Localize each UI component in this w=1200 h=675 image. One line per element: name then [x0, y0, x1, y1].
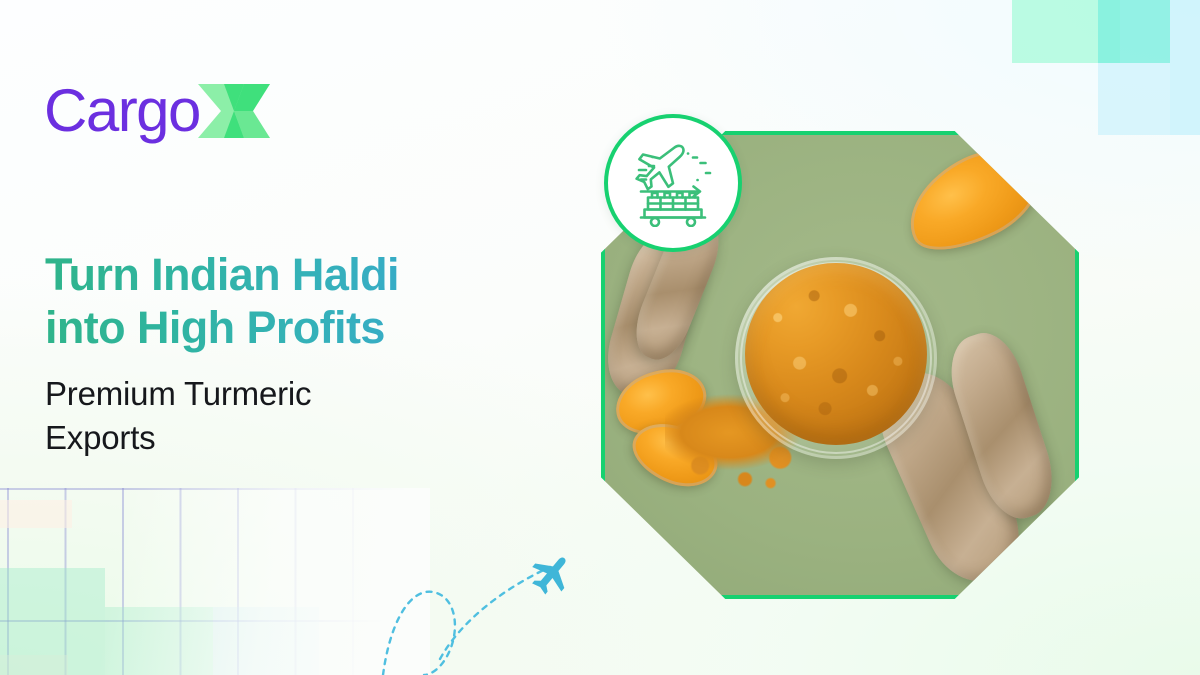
page-subtitle: Premium Turmeric Exports: [45, 372, 445, 459]
turmeric-slice: [892, 133, 1052, 267]
airplane-icon: [524, 546, 579, 601]
logo-wordmark: Cargo: [44, 81, 200, 141]
decor-square-mint-bl: [0, 568, 105, 675]
decor-square-mint-bl-2: [105, 607, 213, 675]
decor-square-blue-bl: [213, 607, 319, 675]
logo-x-mark: [196, 80, 272, 142]
decor-square-warm: [0, 500, 72, 528]
decor-square-teal: [1098, 0, 1170, 63]
cargox-logo[interactable]: Cargo: [44, 78, 272, 144]
glass-bowl: [735, 257, 937, 459]
air-cargo-freight-icon: [627, 139, 719, 227]
flight-trail-loop: [383, 592, 455, 675]
subheadline-line-1: Premium Turmeric: [45, 372, 445, 416]
page-title: Turn Indian Haldi into High Profits: [45, 248, 565, 354]
airplane-trail-decoration: [378, 530, 628, 675]
turmeric-powder: [745, 263, 927, 445]
flight-trail-line: [440, 567, 550, 659]
headline-line-1: Turn Indian Haldi: [45, 248, 565, 301]
promo-banner: Cargo Turn Indian Haldi into High Profit…: [0, 0, 1200, 675]
decor-square-cyan-2: [1170, 0, 1200, 135]
air-cargo-badge: [604, 114, 742, 252]
headline-line-2: into High Profits: [45, 301, 565, 354]
subheadline-line-2: Exports: [45, 416, 445, 460]
